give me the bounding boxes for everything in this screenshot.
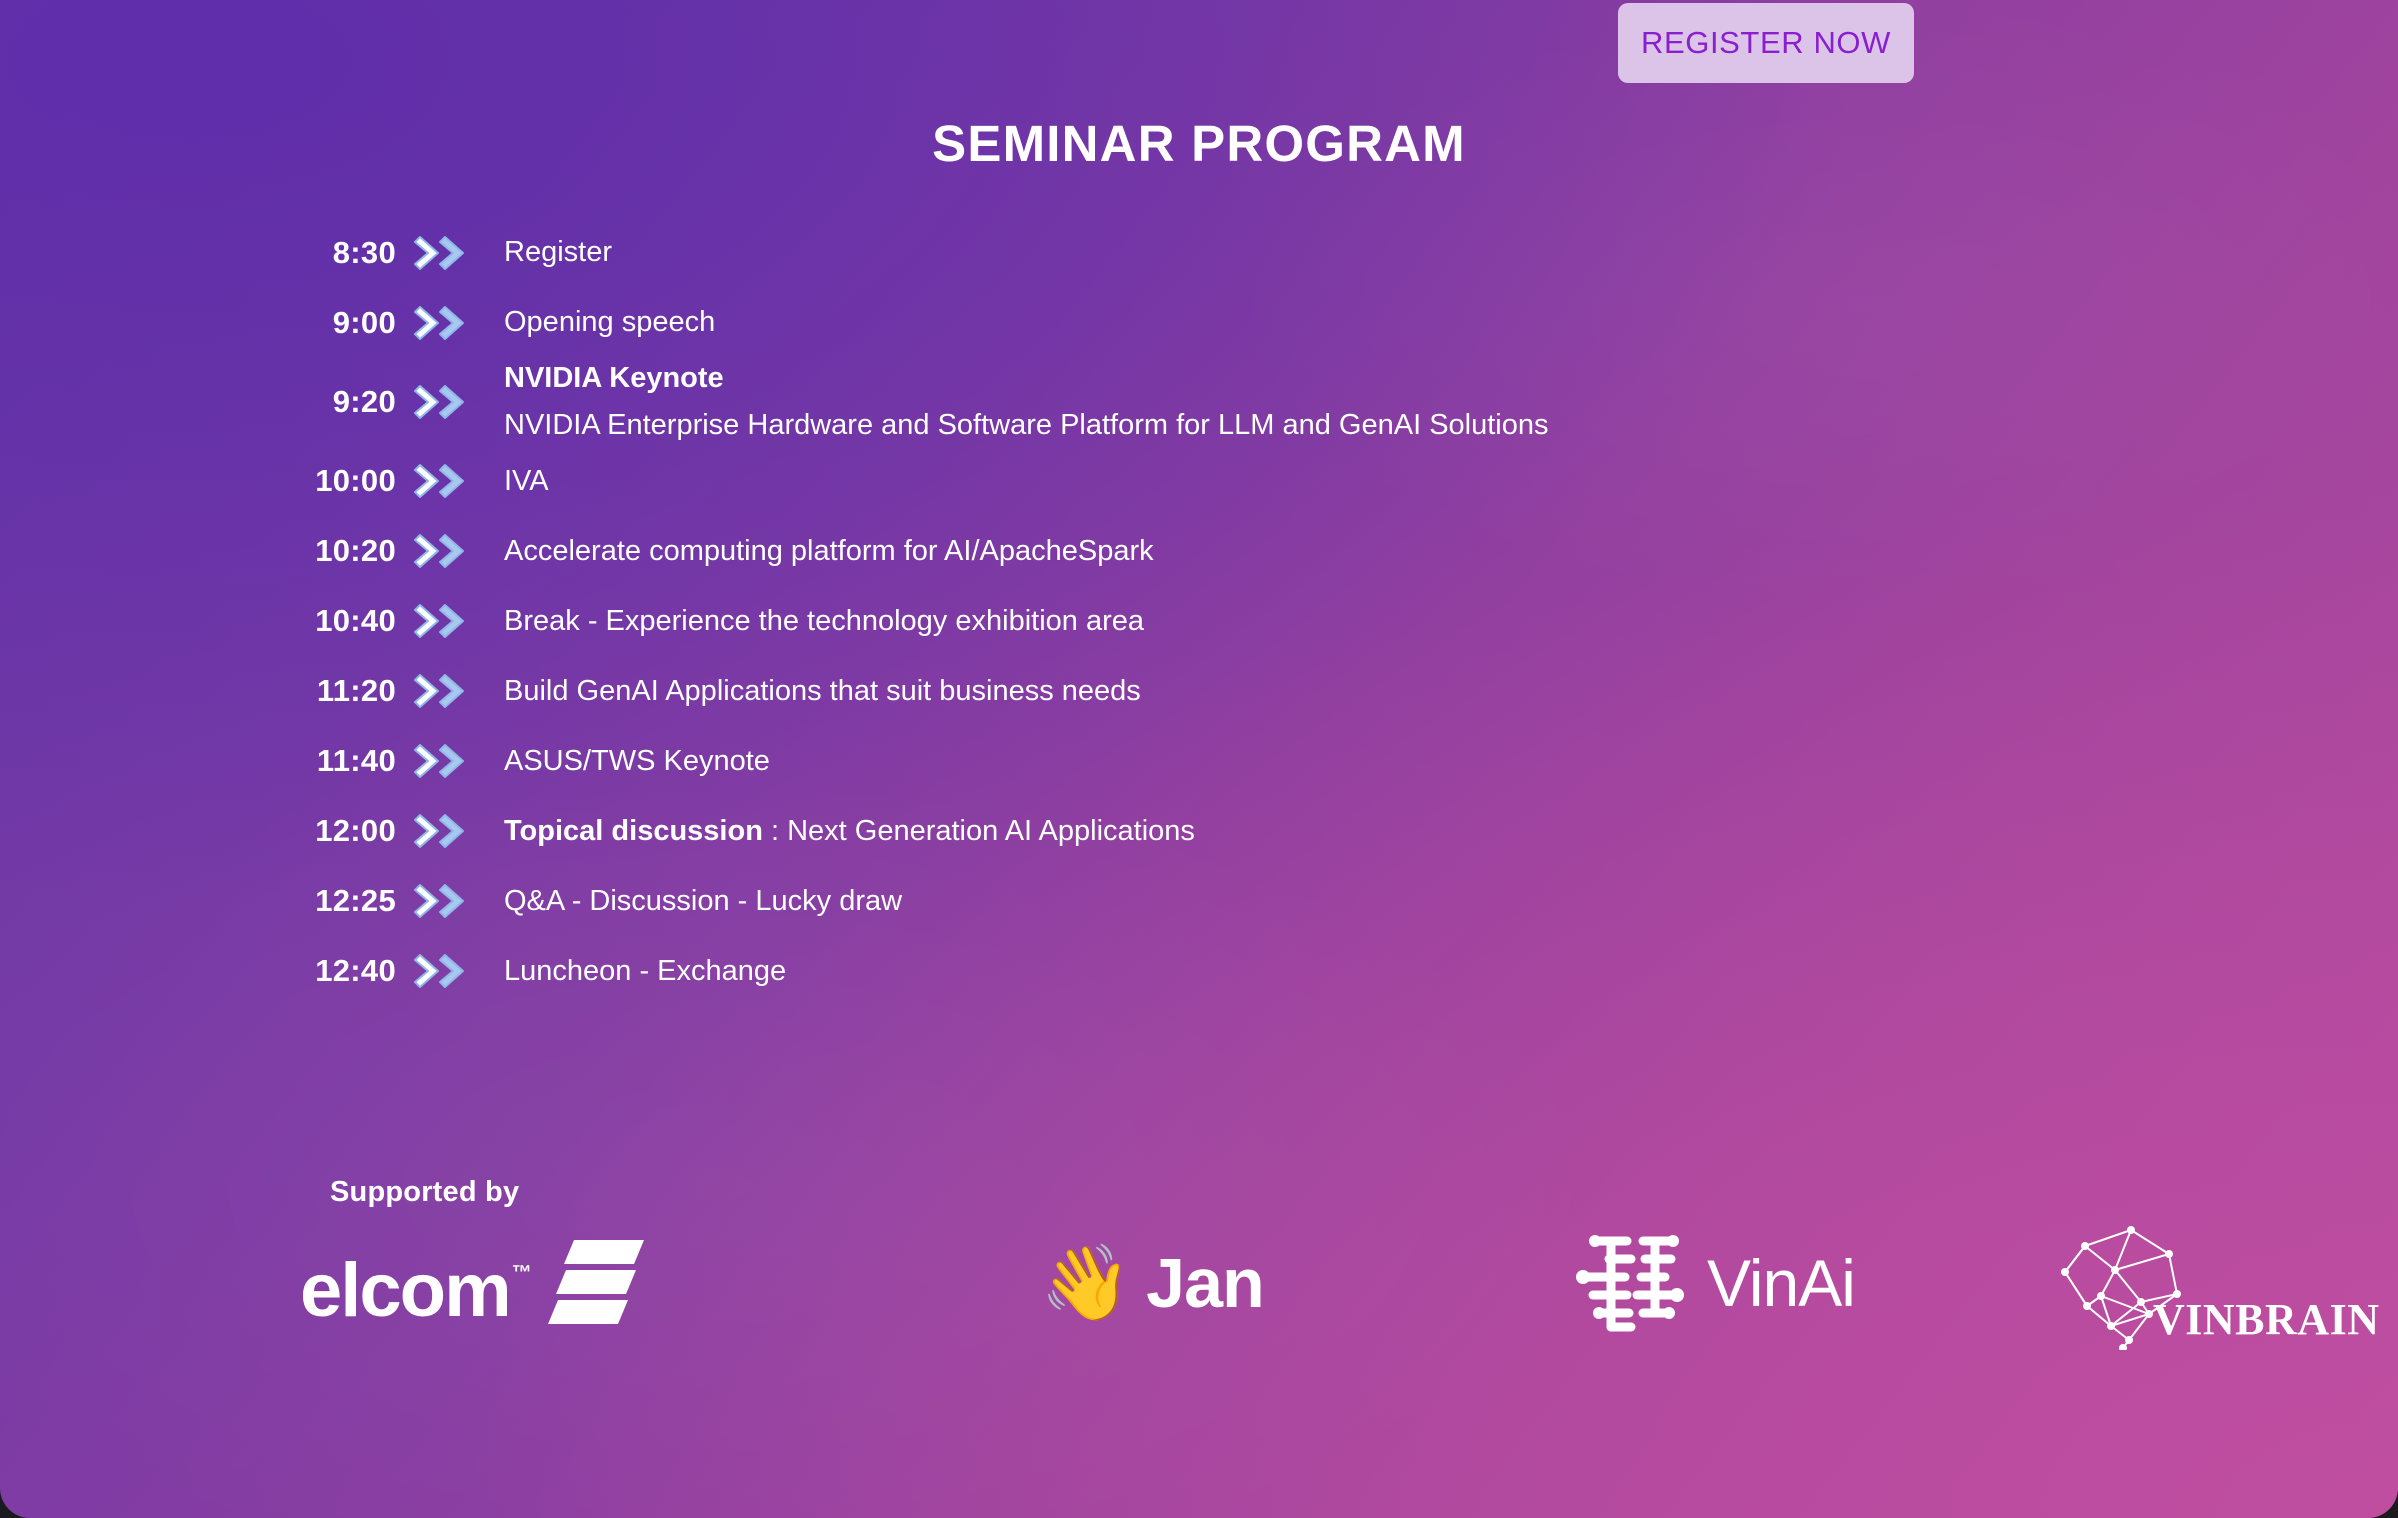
agenda-row-time: 10:20 [0,533,414,569]
agenda-row-text: Q&A - Discussion - Lucky draw [490,881,2398,922]
sponsor-logo-vinbrain: VINBRAIN [2020,1208,2398,1358]
agenda-row-text: Luncheon - Exchange [490,951,2398,992]
agenda-row: 12:25 Q&A - Discussion - Lucky draw [0,866,2398,936]
sponsor-logo-elcom: elcom ™ [300,1208,795,1358]
page-title: SEMINAR PROGRAM [0,114,2398,173]
agenda-row: 9:20 NVIDIA KeynoteNVIDIA Enterprise Har… [0,358,2398,446]
double-chevron-right-icon [414,881,490,921]
double-chevron-right-icon [414,601,490,641]
agenda-row-text: Register [490,232,2398,273]
supported-by-label: Supported by [330,1176,519,1209]
agenda-row: 11:20 Build GenAI Applications that suit… [0,656,2398,726]
double-chevron-right-icon [414,811,490,851]
agenda-row-time: 10:40 [0,603,414,639]
agenda-row-text: Build GenAI Applications that suit busin… [490,671,2398,712]
agenda-row-title: Topical discussion [504,815,763,847]
agenda-row: 8:30 Register [0,218,2398,288]
agenda-row: 12:00 Topical discussion : Next Generati… [0,796,2398,866]
double-chevron-right-icon [414,461,490,501]
agenda-row-title: NVIDIA Keynote [504,362,724,394]
agenda-row-time: 12:25 [0,883,414,919]
agenda-row-time: 12:40 [0,953,414,989]
agenda-row-body: NVIDIA KeynoteNVIDIA Enterprise Hardware… [490,358,2398,446]
elcom-e-mark-icon [548,1238,644,1329]
sponsor-logo-jan: 👋 Jan [795,1208,1535,1358]
vinbrain-wordmark: VINBRAIN [2153,1298,2379,1342]
double-chevron-right-icon [414,531,490,571]
trademark-icon: ™ [512,1262,532,1285]
agenda-row: 10:20 Accelerate computing platform for … [0,516,2398,586]
agenda-row-time: 10:00 [0,463,414,499]
double-chevron-right-icon [414,671,490,711]
double-chevron-right-icon [414,951,490,991]
waving-hand-icon: 👋 [1040,1246,1132,1320]
agenda-row-time: 12:00 [0,813,414,849]
agenda-row: 11:40 ASUS/TWS Keynote [0,726,2398,796]
agenda-row: 10:40 Break - Experience the technology … [0,586,2398,656]
double-chevron-right-icon [414,741,490,781]
agenda-row-text: Break - Experience the technology exhibi… [490,601,2398,642]
agenda-row-text: Accelerate computing platform for AI/Apa… [490,531,2398,572]
double-chevron-right-icon [414,382,490,422]
double-chevron-right-icon [414,233,490,273]
agenda-row-text: : Next Generation AI Applications [763,815,1195,847]
agenda-row: 10:00 IVA [0,446,2398,516]
agenda-row-time: 8:30 [0,235,414,271]
agenda-row-subtitle: NVIDIA Enterprise Hardware and Software … [504,405,2398,446]
agenda-row: 9:00 Opening speech [0,288,2398,358]
agenda-row: 12:40 Luncheon - Exchange [0,936,2398,1006]
vinai-circuit-icon [1565,1227,1691,1340]
jan-wordmark: Jan [1146,1248,1264,1318]
double-chevron-right-icon [414,303,490,343]
vinai-wordmark: VinAi [1707,1250,1855,1316]
sponsor-logo-vinai: VinAi [1535,1208,2020,1358]
agenda-row-time: 11:20 [0,673,414,709]
agenda-row-text: ASUS/TWS Keynote [490,741,2398,782]
agenda-row-text: IVA [490,461,2398,502]
agenda-list: 8:30 Register9:00 Opening speech9:20 NVI… [0,218,2398,1006]
seminar-program-slide: REGISTER NOW SEMINAR PROGRAM 8:30 Regist… [0,0,2398,1518]
agenda-row-time: 9:00 [0,305,414,341]
register-now-button[interactable]: REGISTER NOW [1618,3,1914,83]
agenda-row-text: Opening speech [490,302,2398,343]
agenda-row-time: 9:20 [0,384,414,420]
agenda-row-time: 11:40 [0,743,414,779]
elcom-wordmark: elcom [300,1253,510,1329]
agenda-row-body: Topical discussion : Next Generation AI … [490,811,2398,852]
sponsor-logo-strip: elcom ™ 👋 Jan [300,1208,2160,1358]
